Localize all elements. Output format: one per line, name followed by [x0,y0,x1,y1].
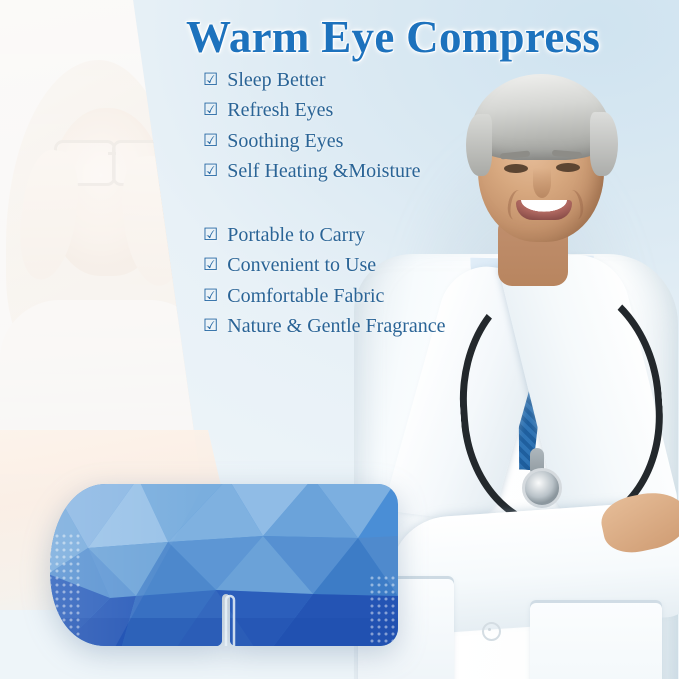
doctor-eye-right [556,163,580,172]
product-poster: Warm Eye Compress ☑ Sleep Better ☑ Refre… [0,0,679,679]
benefits-list: ☑ Sleep Better ☑ Refresh Eyes ☑ Soothing… [203,65,421,187]
lab-coat-pocket-right [530,600,662,679]
list-item: ☑ Convenient to Use [203,250,445,280]
list-item: ☑ Self Heating &Moisture [203,156,421,186]
list-item-label: Convenient to Use [227,250,376,280]
list-item-label: Refresh Eyes [227,95,333,125]
stethoscope-chestpiece-icon [522,468,562,508]
list-item: ☑ Sleep Better [203,65,421,95]
doctor-nose [533,168,551,198]
list-item: ☑ Portable to Carry [203,220,445,250]
checkbox-checked-icon: ☑ [203,256,218,273]
checkbox-checked-icon: ☑ [203,71,218,88]
checkbox-checked-icon: ☑ [203,287,218,304]
checkbox-checked-icon: ☑ [203,317,218,334]
checkbox-checked-icon: ☑ [203,162,218,179]
list-item-label: Comfortable Fabric [227,281,384,311]
doctor-smile [516,200,572,220]
list-item-label: Soothing Eyes [227,126,343,156]
list-item-label: Sleep Better [227,65,325,95]
list-item: ☑ Comfortable Fabric [203,281,445,311]
list-item: ☑ Soothing Eyes [203,126,421,156]
checkbox-checked-icon: ☑ [203,132,218,149]
doctor-hair-side-left [466,114,492,176]
checkbox-checked-icon: ☑ [203,101,218,118]
attributes-list: ☑ Portable to Carry ☑ Convenient to Use … [203,220,445,342]
list-item-label: Nature & Gentle Fragrance [227,311,445,341]
list-item: ☑ Refresh Eyes [203,95,421,125]
lab-coat-button [482,622,501,641]
list-item-label: Self Heating &Moisture [227,156,420,186]
doctor-eye-left [504,164,528,173]
list-item-label: Portable to Carry [227,220,365,250]
list-item: ☑ Nature & Gentle Fragrance [203,311,445,341]
warm-eye-compress-mask [48,478,398,660]
checkbox-checked-icon: ☑ [203,226,218,243]
doctor-hair-side-right [590,112,618,176]
page-title: Warm Eye Compress [186,14,672,61]
